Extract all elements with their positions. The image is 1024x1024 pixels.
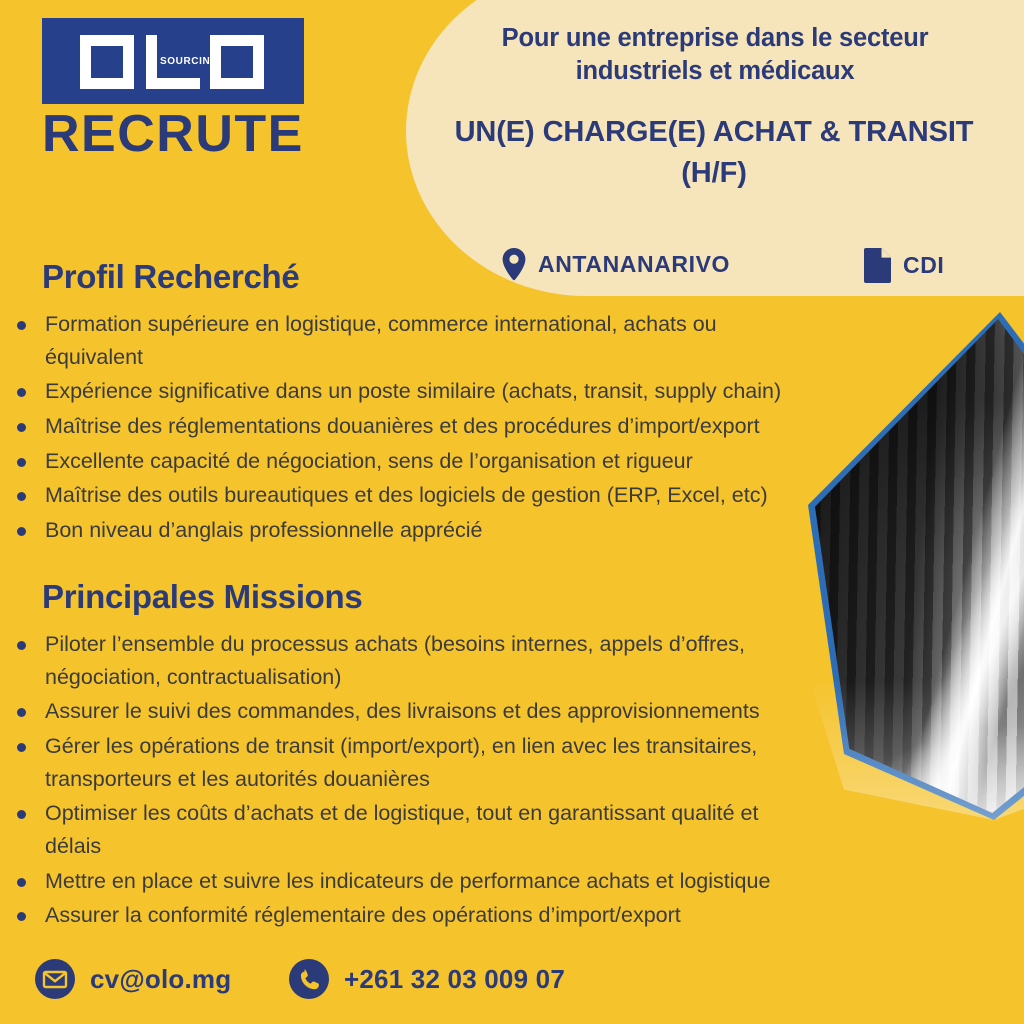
section-title-profil: Profil Recherché — [42, 258, 820, 296]
envelope-icon — [34, 958, 76, 1000]
list-item: Formation supérieure en logistique, comm… — [0, 308, 805, 373]
list-item: Excellente capacité de négociation, sens… — [0, 445, 805, 478]
list-item: Expérience significative dans un poste s… — [0, 375, 805, 408]
recrute-wordmark: RECRUTE — [42, 108, 322, 161]
job-posting-poster: Pour une entreprise dans le secteur indu… — [0, 0, 1024, 1024]
brand-logo: SOURCING RECRUTE — [42, 18, 322, 161]
contact-phone[interactable]: +261 32 03 009 07 — [288, 958, 565, 1000]
phone-icon — [288, 958, 330, 1000]
missions-bullet-list: Piloter l’ensemble du processus achats (… — [0, 628, 820, 932]
list-item: Maîtrise des outils bureautiques et des … — [0, 479, 805, 512]
profil-bullet-list: Formation supérieure en logistique, comm… — [0, 308, 820, 547]
job-contract-type: CDI — [864, 248, 944, 283]
contact-email-label: cv@olo.mg — [90, 964, 231, 995]
contact-phone-label: +261 32 03 009 07 — [344, 964, 565, 995]
job-title: UN(E) CHARGE(E) ACHAT & TRANSIT (H/F) — [424, 112, 1004, 194]
contact-footer: cv@olo.mg +261 32 03 009 07 — [34, 950, 734, 1020]
list-item: Bon niveau d’anglais professionnelle app… — [0, 514, 805, 547]
company-sector-subtitle: Pour une entreprise dans le secteur indu… — [446, 22, 984, 87]
section-title-missions: Principales Missions — [42, 578, 820, 616]
contact-email[interactable]: cv@olo.mg — [34, 958, 231, 1000]
section-profil-recherche: Profil Recherché Formation supérieure en… — [0, 258, 820, 549]
list-item: Gérer les opérations de transit (import/… — [0, 730, 805, 795]
list-item: Assurer la conformité réglementaire des … — [0, 899, 805, 932]
job-contract-label: CDI — [903, 252, 944, 279]
list-item: Mettre en place et suivre les indicateur… — [0, 865, 805, 898]
document-icon — [864, 248, 891, 283]
logo-mark: SOURCING — [42, 18, 304, 104]
container-ship-photo — [808, 312, 1024, 820]
list-item: Assurer le suivi des commandes, des livr… — [0, 695, 805, 728]
logo-letter-l-foot — [146, 78, 200, 89]
logo-tagline: SOURCING — [160, 56, 219, 67]
logo-letter-o-first — [80, 35, 134, 89]
list-item: Optimiser les coûts d’achats et de logis… — [0, 797, 805, 862]
section-principales-missions: Principales Missions Piloter l’ensemble … — [0, 578, 820, 934]
header-content: Pour une entreprise dans le secteur indu… — [406, 0, 1024, 296]
list-item: Maîtrise des réglementations douanières … — [0, 410, 805, 443]
list-item: Piloter l’ensemble du processus achats (… — [0, 628, 805, 693]
